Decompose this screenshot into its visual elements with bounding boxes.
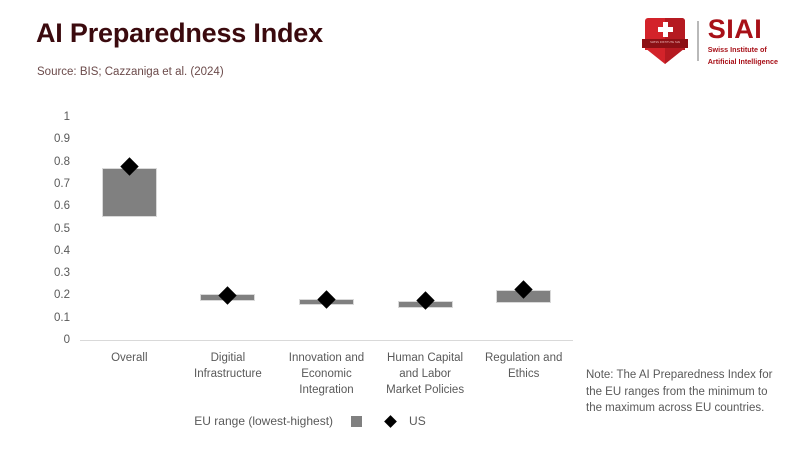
x-axis-category-label-line: Overall: [80, 350, 179, 366]
y-axis-tick-label: 0: [30, 334, 70, 346]
y-axis-tick-label: 0.4: [30, 245, 70, 257]
shield-ribbon-label: SWISS INSTITUTE SIAI: [642, 41, 688, 44]
y-axis-tick-label: 0.7: [30, 178, 70, 190]
x-axis-category-label-line: Human Capital: [376, 350, 475, 366]
x-axis-category-label-line: Digitial: [179, 350, 278, 366]
legend-item-eu-range-label: EU range (lowest-highest): [194, 414, 333, 428]
legend-swatch-us-diamond-icon: [384, 415, 397, 428]
x-axis-category-label: Regulation andEthics: [474, 350, 573, 382]
y-axis-tick-label: 0.3: [30, 267, 70, 279]
x-axis-category-label: Innovation andEconomicIntegration: [277, 350, 376, 398]
y-axis-tick-label: 0.5: [30, 223, 70, 235]
legend-swatch-eu-range: [351, 416, 362, 427]
x-axis-category-label-line: Infrastructure: [179, 366, 278, 382]
x-axis-category-label-line: and Labor: [376, 366, 475, 382]
y-axis-tick-label: 0.2: [30, 289, 70, 301]
x-axis-category-label: Overall: [80, 350, 179, 366]
chart-note: Note: The AI Preparedness Index for the …: [586, 367, 786, 417]
chart-legend: EU range (lowest-highest) US: [150, 414, 470, 428]
swiss-cross-icon-horizontal: [658, 27, 674, 32]
x-axis-category-label: Human Capitaland LaborMarket Policies: [376, 350, 475, 398]
x-axis-category-label-line: Ethics: [474, 366, 573, 382]
x-axis-category-label-line: Innovation and: [277, 350, 376, 366]
y-axis-tick-label: 0.6: [30, 200, 70, 212]
x-axis-category-label-line: Integration: [277, 382, 376, 398]
x-axis-line: [80, 340, 573, 341]
us-value-diamond-icon: [219, 286, 237, 304]
x-axis-category-label-line: Regulation and: [474, 350, 573, 366]
legend-item-us-label: US: [409, 414, 426, 428]
x-axis-category-label: DigitialInfrastructure: [179, 350, 278, 382]
y-axis-tick-label: 0.1: [30, 312, 70, 324]
y-axis-tick-label: 0.9: [30, 133, 70, 145]
y-axis-tick-label: 1: [30, 111, 70, 123]
x-axis-category-label-line: Market Policies: [376, 382, 475, 398]
x-axis-category-label-line: Economic: [277, 366, 376, 382]
us-value-diamond-icon: [317, 291, 335, 309]
y-axis-tick-label: 0.8: [30, 156, 70, 168]
